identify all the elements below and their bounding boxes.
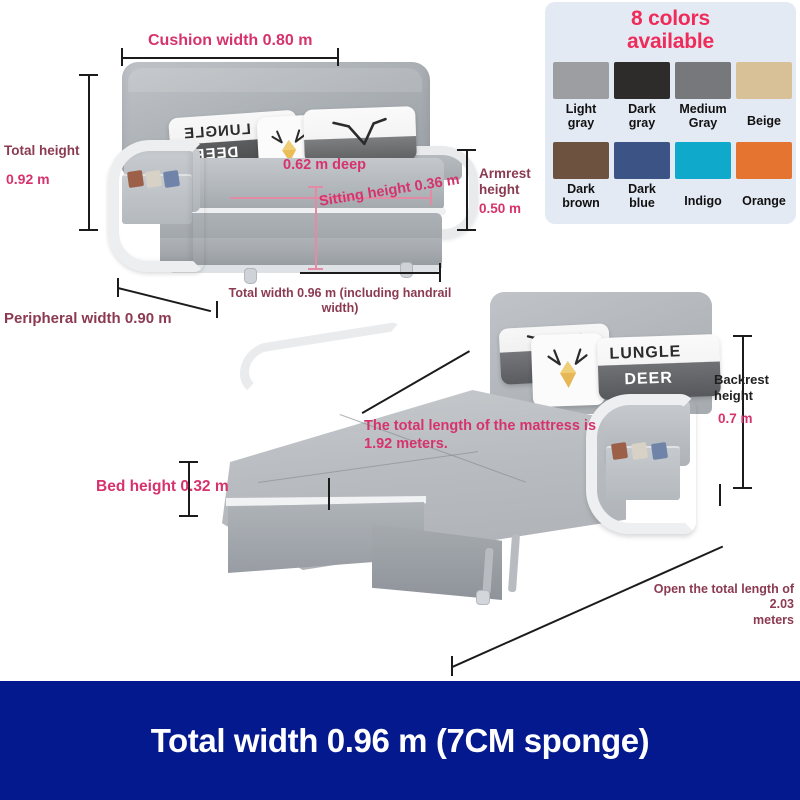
bed-armrest-near (586, 394, 696, 534)
armrest-rail-near (108, 140, 204, 272)
open-length-line1: Open the total length of 2.03 (626, 582, 794, 613)
cushion-width-tick-right (337, 48, 339, 66)
label-line2: brown (553, 196, 609, 210)
chip-medium-gray (675, 62, 731, 99)
sitting-height-rule (315, 187, 317, 269)
chip-indigo (675, 142, 731, 179)
color-options-title-line1: 8 colors (545, 8, 796, 31)
cushion-width-tick-left (121, 48, 123, 66)
chip-orange (736, 142, 792, 179)
chip-label-dark-blue: Dark blue (614, 182, 670, 210)
peripheral-width-tick-right (216, 301, 218, 318)
chip-light-gray (553, 62, 609, 99)
color-swatch-orange[interactable]: Orange (736, 142, 792, 210)
color-swatch-light-gray[interactable]: Light gray (553, 62, 609, 130)
bed-pillow-lungle-deer: LUNGLE DEER (597, 334, 721, 400)
open-length-line2: meters (626, 613, 794, 628)
bottom-banner-text: Total width 0.96 m (7CM sponge) (0, 681, 800, 800)
chip-dark-blue (614, 142, 670, 179)
total-height-rule (88, 75, 90, 230)
color-options-title: 8 colors available (545, 8, 796, 53)
chip-dark-gray (614, 62, 670, 99)
armrest-height-tick-bottom (457, 229, 476, 231)
color-swatch-row-1: Light gray Dark gray Medium Gray (553, 62, 788, 130)
label-line2: gray (614, 116, 670, 130)
mattress-length-label: The total length of the mattress is 1.92… (364, 418, 596, 453)
chip-dark-brown (553, 142, 609, 179)
cushion-width-rule (122, 57, 338, 59)
label-line1: Dark (553, 182, 609, 196)
chip-label-light-gray: Light gray (553, 102, 609, 130)
peripheral-width-tick-left (117, 278, 119, 297)
label-line2: Gray (675, 116, 731, 130)
chip-label-indigo: Indigo (675, 194, 731, 208)
backrest-height-label: Backrest height (714, 372, 776, 403)
color-options-panel: 8 colors available Light gray Dark gray (545, 2, 796, 224)
backrest-height-tick-top (733, 335, 752, 337)
chip-label-medium-gray: Medium Gray (675, 102, 731, 130)
pillow-long-right (303, 106, 417, 164)
bed-pillow-text-line1: LUNGLE (609, 343, 681, 363)
backrest-height-tick-bottom (733, 487, 752, 489)
open-length-tick-left (451, 656, 453, 676)
total-height-value: 0.92 m (6, 171, 50, 188)
open-length-label: Open the total length of 2.03 meters (626, 582, 794, 628)
label-line2: gray (553, 116, 609, 130)
bed-height-tick-bottom (179, 515, 198, 517)
infographic-canvas: LUNGLE DEER (0, 0, 800, 800)
label-line1: Indigo (675, 194, 731, 208)
sofa-armrest-near (108, 140, 204, 272)
armrest-height-label: Armrest height (479, 166, 541, 199)
armrest-height-tick-top (457, 149, 476, 151)
open-length-tick-right (719, 484, 721, 506)
armrest-height-value: 0.50 m (479, 201, 521, 217)
chip-beige (736, 62, 792, 99)
bed-armrest-rail-near (586, 394, 696, 534)
sofa-caster-right (400, 262, 413, 278)
color-swatch-row-2: Dark brown Dark blue Indigo (553, 142, 788, 210)
total-height-tick-top (79, 74, 98, 76)
chip-label-dark-gray: Dark gray (614, 102, 670, 130)
label-line1: Medium (675, 102, 731, 116)
total-width-tick-right (439, 263, 441, 282)
depth-label: 0.62 m deep (283, 157, 366, 175)
bed-armrest-rail-far (240, 321, 400, 398)
color-swatch-dark-gray[interactable]: Dark gray (614, 62, 670, 130)
label-line1: Orange (736, 194, 792, 208)
color-swatch-indigo[interactable]: Indigo (675, 142, 731, 210)
bottom-banner: Total width 0.96 m (7CM sponge) (0, 681, 800, 800)
bed-height-tick-top (179, 461, 198, 463)
label-line1: Dark (614, 182, 670, 196)
chip-label-dark-brown: Dark brown (553, 182, 609, 210)
color-swatch-dark-blue[interactable]: Dark blue (614, 142, 670, 210)
total-height-tick-bottom (79, 229, 98, 231)
mattress-length-line2: 1.92 meters. (364, 436, 596, 454)
antler-icon (313, 112, 404, 155)
total-width-rule (300, 272, 440, 274)
mattress-length-line1: The total length of the mattress is (364, 418, 596, 436)
bed-support-leg-1 (508, 534, 520, 592)
backrest-height-value: 0.7 m (718, 411, 753, 427)
sitting-height-tick-top (308, 186, 323, 188)
color-options-title-line2: available (545, 31, 796, 54)
label-line2: blue (614, 196, 670, 210)
peripheral-width-label: Peripheral width 0.90 m (4, 310, 172, 328)
bed-pillow-text-line2: DEER (624, 370, 673, 390)
color-swatch-dark-brown[interactable]: Dark brown (553, 142, 609, 210)
label-line1: Light (553, 102, 609, 116)
mattress-length-tick-rule (328, 478, 330, 510)
label-line1: Dark (614, 102, 670, 116)
sofa-caster-left (244, 268, 257, 284)
color-swatch-medium-gray[interactable]: Medium Gray (675, 62, 731, 130)
bed-height-label: Bed height 0.32 m (96, 478, 229, 497)
chip-label-orange: Orange (736, 194, 792, 208)
armrest-height-rule (466, 150, 468, 230)
cushion-width-label: Cushion width 0.80 m (148, 31, 312, 51)
chip-label-beige: Beige (736, 114, 792, 128)
bed-caster (476, 590, 490, 605)
bed-armrest-far (240, 334, 400, 368)
sitting-height-tick-bottom (308, 268, 323, 270)
color-swatch-beige[interactable]: Beige (736, 62, 792, 130)
label-line1: Beige (736, 114, 792, 128)
total-height-label: Total height (4, 143, 80, 159)
